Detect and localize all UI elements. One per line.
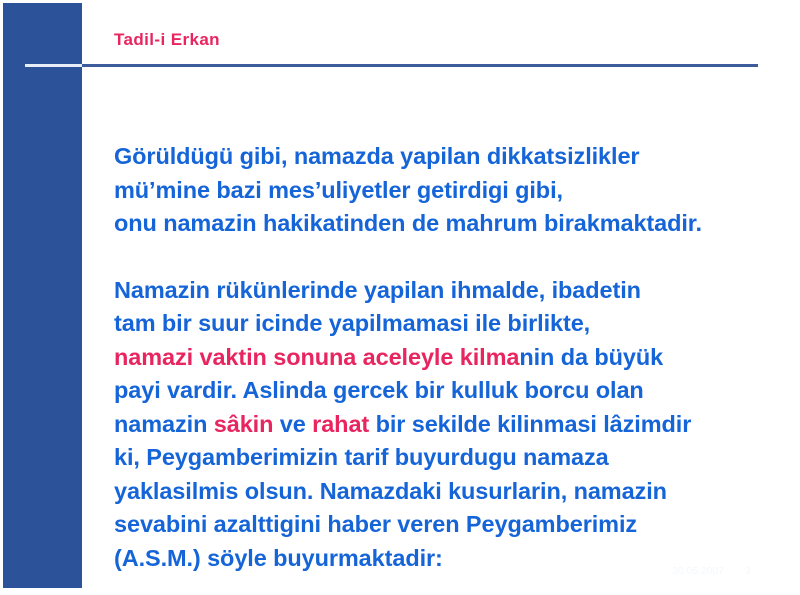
text-line: sevabini azalttigini haber veren Peygamb… — [114, 508, 800, 542]
text-run: sevabini azalttigini haber veren Peygamb… — [114, 511, 637, 537]
footer-date: 30.05.2007 — [672, 566, 724, 577]
text-line: Namazin rükünlerinde yapilan ihmalde, ib… — [114, 274, 800, 308]
text-line: Görüldügü gibi, namazda yapilan dikkatsi… — [114, 140, 800, 174]
footer-page-number: 3 — [745, 566, 751, 577]
text-run: mü’mine bazi mes’uliyetler getirdigi gib… — [114, 177, 563, 203]
text-run: yaklasilmis olsun. Namazdaki kusurlarin,… — [114, 478, 667, 504]
text-line: yaklasilmis olsun. Namazdaki kusurlarin,… — [114, 475, 800, 509]
text-run: Namazin rükünlerinde yapilan ihmalde, ib… — [114, 277, 641, 303]
text-run: tam bir suur icinde yapilmamasi ile birl… — [114, 310, 590, 336]
text-line: payi vardir. Aslinda gercek bir kulluk b… — [114, 374, 800, 408]
text-run: ki, Peygamberimizin tarif buyurdugu nama… — [114, 444, 609, 470]
text-line: namazi vaktin sonuna aceleyle kilmanin d… — [114, 341, 800, 375]
highlighted-text-run: sâkin — [214, 411, 274, 437]
text-line: tam bir suur icinde yapilmamasi ile birl… — [114, 307, 800, 341]
text-run: namazin — [114, 411, 214, 437]
slide-canvas: Tadil-i Erkan Görüldügü gibi, namazda ya… — [0, 0, 800, 595]
header-rule-white-segment — [25, 64, 83, 67]
text-run: Görüldügü gibi, namazda yapilan dikkatsi… — [114, 143, 639, 169]
highlighted-text-run: rahat — [312, 411, 369, 437]
text-paragraph: Görüldügü gibi, namazda yapilan dikkatsi… — [114, 140, 800, 241]
text-run: payi vardir. Aslinda gercek bir kulluk b… — [114, 377, 644, 403]
slide-body-text: Görüldügü gibi, namazda yapilan dikkatsi… — [114, 140, 800, 575]
header-rule-blue-segment — [82, 64, 758, 67]
text-line: onu namazin hakikatinden de mahrum birak… — [114, 207, 800, 241]
text-run: nin da büyük — [519, 344, 663, 370]
highlighted-text-run: namazi vaktin sonuna aceleyle kilma — [114, 344, 519, 370]
text-run: ve — [273, 411, 312, 437]
text-run: onu namazin hakikatinden de mahrum birak… — [114, 210, 702, 236]
text-run: bir sekilde kilinmasi lâzimdir — [369, 411, 691, 437]
slide-title: Tadil-i Erkan — [114, 30, 220, 50]
text-line: mü’mine bazi mes’uliyetler getirdigi gib… — [114, 174, 800, 208]
text-paragraph: Namazin rükünlerinde yapilan ihmalde, ib… — [114, 274, 800, 576]
text-run: (A.S.M.) söyle buyurmaktadir: — [114, 545, 443, 571]
text-line: namazin sâkin ve rahat bir sekilde kilin… — [114, 408, 800, 442]
decorative-accent-band — [3, 3, 82, 588]
text-line: ki, Peygamberimizin tarif buyurdugu nama… — [114, 441, 800, 475]
